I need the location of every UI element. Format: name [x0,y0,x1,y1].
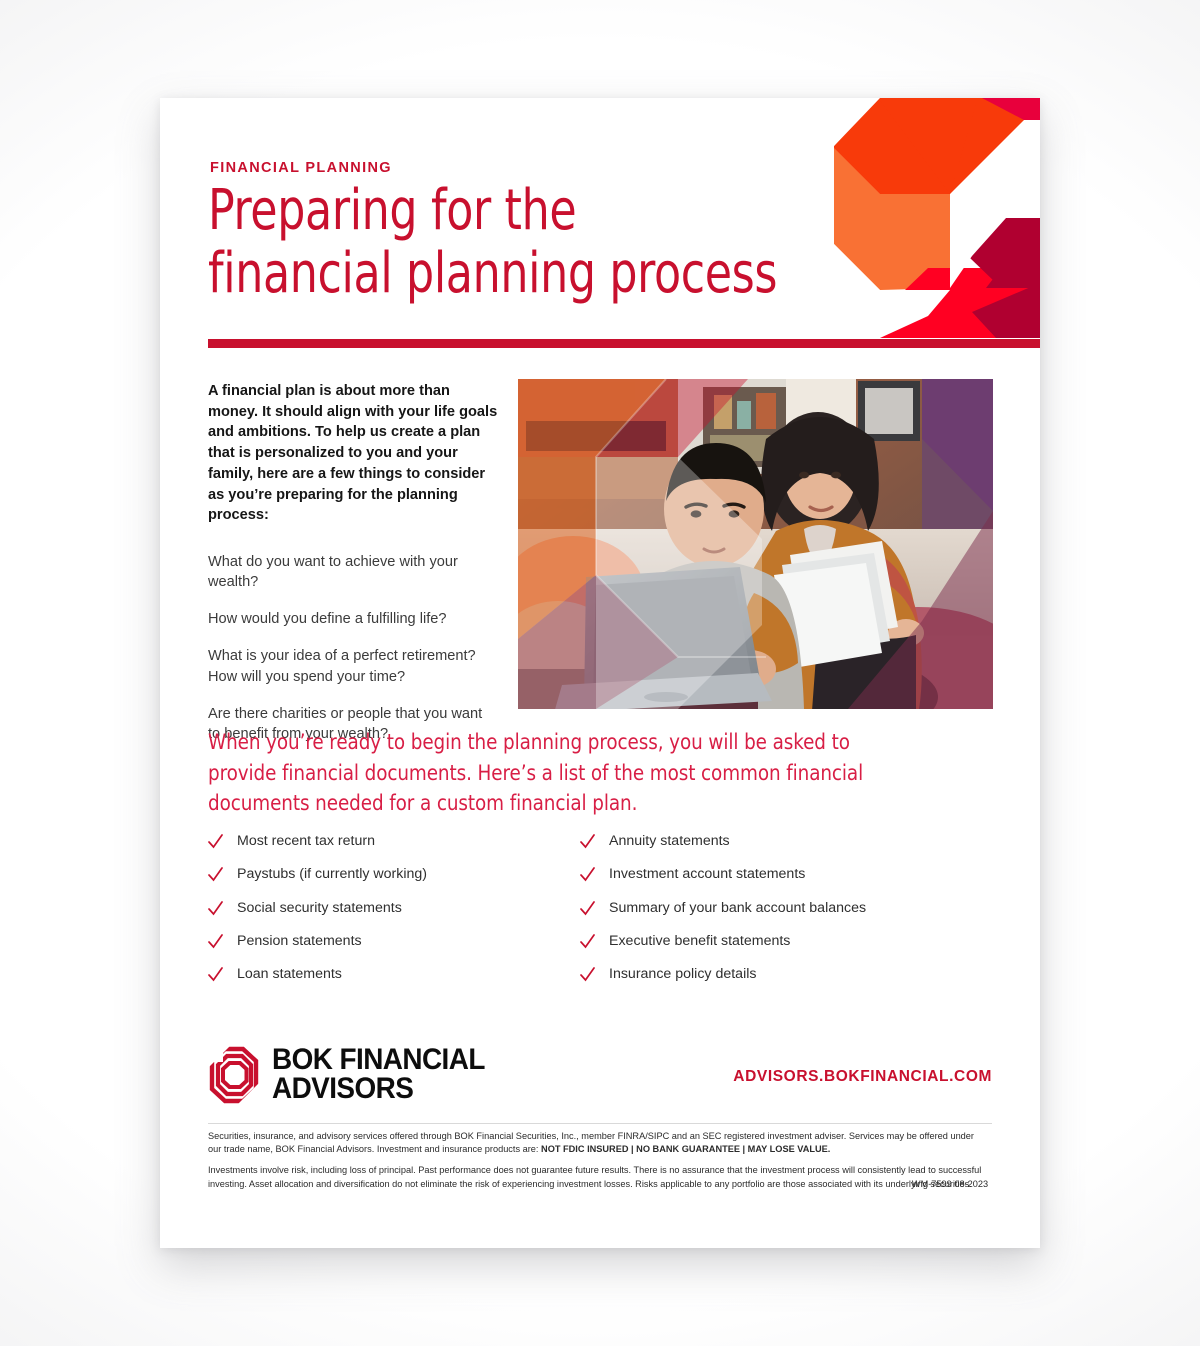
check-icon [580,901,595,917]
website-url[interactable]: ADVISORS.BOKFINANCIAL.COM [733,1068,992,1086]
disclosure-paragraph-1: Securities, insurance, and advisory serv… [208,1130,988,1156]
check-icon [580,834,595,850]
list-item: Most recent tax return [208,833,518,851]
disclosure-paragraph-2-block: Investments involve risk, including loss… [208,1164,988,1190]
bok-octagon-logo-icon [208,1046,260,1104]
page-title-line-2: financial planning process [208,243,824,306]
list-item-label: Loan statements [237,966,342,984]
list-item: Paystubs (if currently working) [208,866,518,884]
bok-cube-geometric-mark [810,98,1040,338]
page-title: Preparing for the financial planning pro… [208,180,824,305]
document-code: WM-7599 08-2023 [912,1178,988,1191]
check-icon [580,967,595,983]
list-item-label: Investment account statements [609,866,805,884]
document-checklist: Most recent tax return Paystubs (if curr… [208,833,1008,999]
list-item: Annuity statements [580,833,890,851]
eyebrow-label: FINANCIAL PLANNING [210,160,392,176]
checklist-column-right: Annuity statements Investment account st… [580,833,890,999]
brand-footer: BOK FINANCIAL ADVISORS ADVISORS.BOKFINAN… [208,1046,992,1112]
list-item-label: Most recent tax return [237,833,375,851]
intro-lead-paragraph: A financial plan is about more than mone… [208,381,498,526]
disclosure-divider [208,1123,992,1124]
check-icon [208,834,223,850]
list-item-label: Insurance policy details [609,966,756,984]
screenshot-stage: FINANCIAL PLANNING Preparing for the fin… [0,0,1200,1346]
list-item-label: Social security statements [237,900,402,918]
intro-question: How would you define a fulfilling life? [208,609,498,629]
disclosure-section: Securities, insurance, and advisory serv… [208,1130,988,1199]
document-page: FINANCIAL PLANNING Preparing for the fin… [160,98,1040,1248]
callout-paragraph: When you’re ready to begin the planning … [208,728,864,820]
logo-wordmark: BOK FINANCIAL ADVISORS [272,1046,485,1104]
hero-photo [518,379,993,709]
check-icon [580,934,595,950]
list-item: Investment account statements [580,866,890,884]
logo-wordmark-line-1: BOK FINANCIAL [272,1046,485,1075]
list-item-label: Executive benefit statements [609,933,790,951]
list-item-label: Pension statements [237,933,362,951]
disclosure-risk-notice: NOT FDIC INSURED | NO BANK GUARANTEE | M… [541,1144,830,1154]
list-item: Summary of your bank account balances [580,900,890,918]
check-icon [208,967,223,983]
list-item: Social security statements [208,900,518,918]
list-item-label: Annuity statements [609,833,730,851]
list-item: Insurance policy details [580,966,890,984]
list-item: Executive benefit statements [580,933,890,951]
document-header: FINANCIAL PLANNING Preparing for the fin… [160,98,1040,350]
check-icon [208,901,223,917]
list-item-label: Summary of your bank account balances [609,900,866,918]
intro-question: What is your idea of a perfect retiremen… [208,646,498,686]
check-icon [208,934,223,950]
check-icon [580,867,595,883]
list-item: Pension statements [208,933,518,951]
checklist-column-left: Most recent tax return Paystubs (if curr… [208,833,518,999]
list-item: Loan statements [208,966,518,984]
bok-financial-advisors-logo: BOK FINANCIAL ADVISORS [208,1046,501,1104]
list-item-label: Paystubs (if currently working) [237,866,427,884]
disclosure-paragraph-2: Investments involve risk, including loss… [208,1164,988,1190]
page-title-line-1: Preparing for the [208,178,576,243]
intro-section: A financial plan is about more than mone… [208,381,498,744]
intro-question: What do you want to achieve with your we… [208,552,498,592]
check-icon [208,867,223,883]
header-divider [208,339,1040,348]
logo-wordmark-line-2: ADVISORS [272,1075,485,1104]
